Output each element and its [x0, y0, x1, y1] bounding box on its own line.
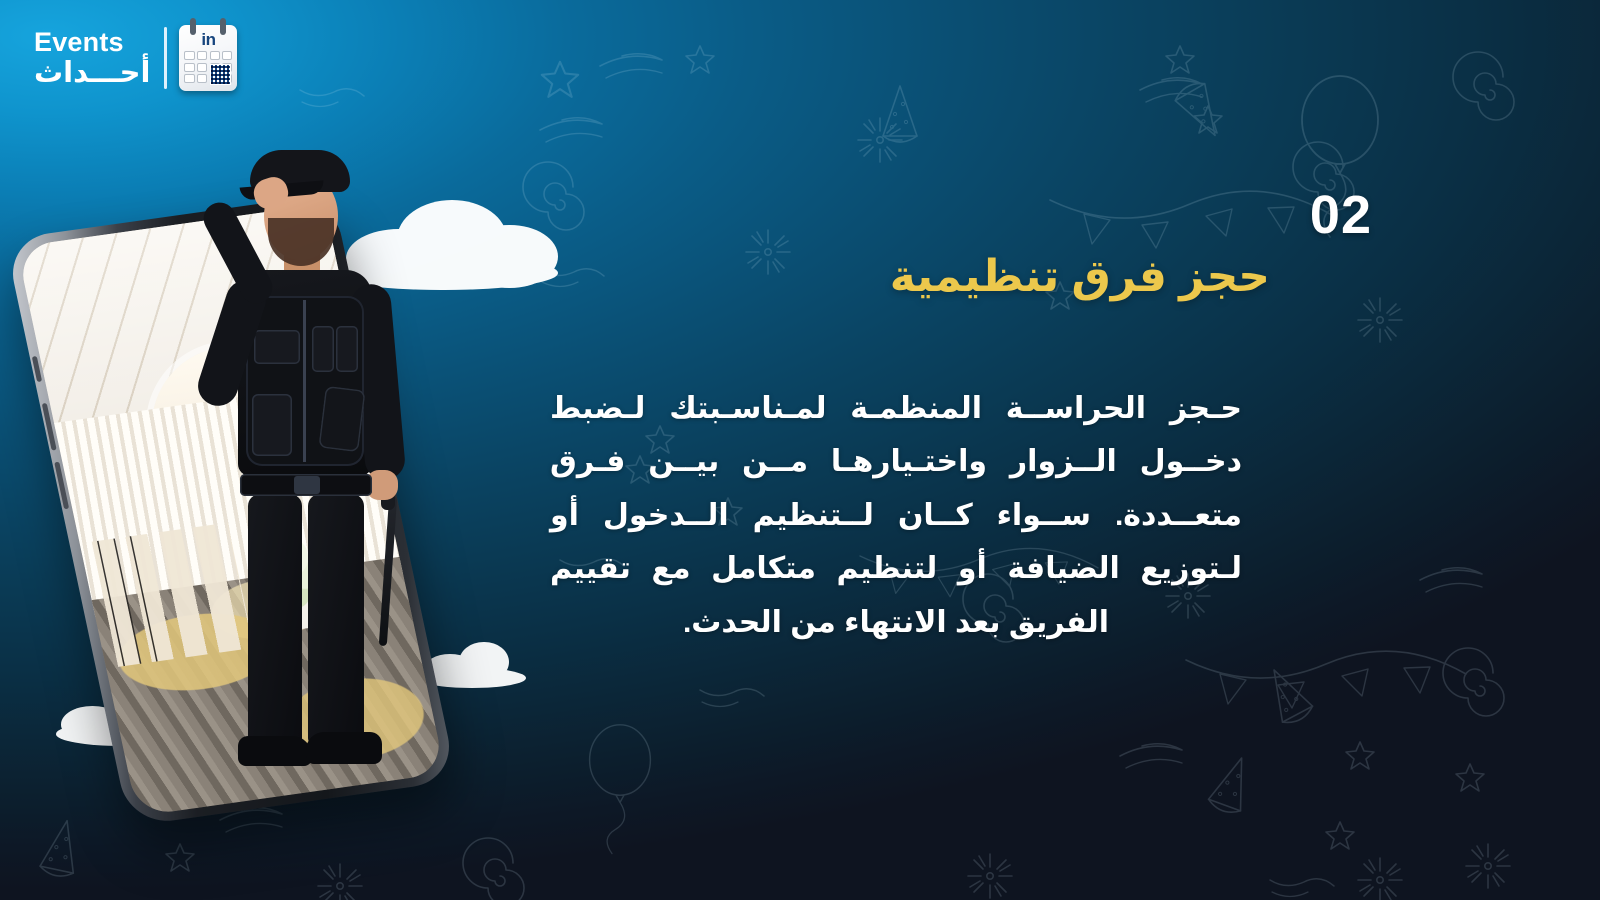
guard-shoe-left — [306, 732, 382, 764]
body-paragraph: حـجز الحراســة المنظمـة لمـناسـبتك لـضبط… — [550, 382, 1242, 649]
calendar-icon: in — [179, 25, 237, 91]
guard-vest-zipper — [303, 300, 306, 462]
guard-shoe-right — [238, 736, 312, 766]
guard-holster — [318, 386, 365, 452]
brand-logo[interactable]: in Events أحـــداث — [34, 18, 237, 98]
security-guard-photo — [176, 144, 426, 794]
qr-code-icon — [210, 64, 231, 85]
phone-composite — [58, 150, 478, 830]
guard-vest-pouch-3 — [336, 326, 358, 372]
guard-vest-pouch-2 — [312, 326, 334, 372]
brand-name-en: Events — [34, 29, 150, 56]
guard-leg-left — [308, 494, 364, 746]
guard-leg-right — [248, 494, 302, 746]
page-title: حجز فرق تنظيمية — [890, 251, 1270, 302]
guard-vest-pouch-4 — [252, 394, 292, 456]
guard-beard — [268, 218, 334, 266]
guard-baton — [379, 496, 397, 646]
linkedin-in-icon: in — [179, 31, 237, 48]
guard-vest-pouch-1 — [254, 330, 300, 364]
slide-number: 02 — [1310, 188, 1372, 242]
slide-canvas: in Events أحـــداث — [0, 0, 1600, 900]
brand-wordmark: Events أحـــداث — [34, 29, 150, 88]
brand-name-ar: أحـــداث — [34, 59, 150, 88]
guard-belt-buckle — [294, 476, 320, 494]
logo-divider — [164, 27, 167, 89]
